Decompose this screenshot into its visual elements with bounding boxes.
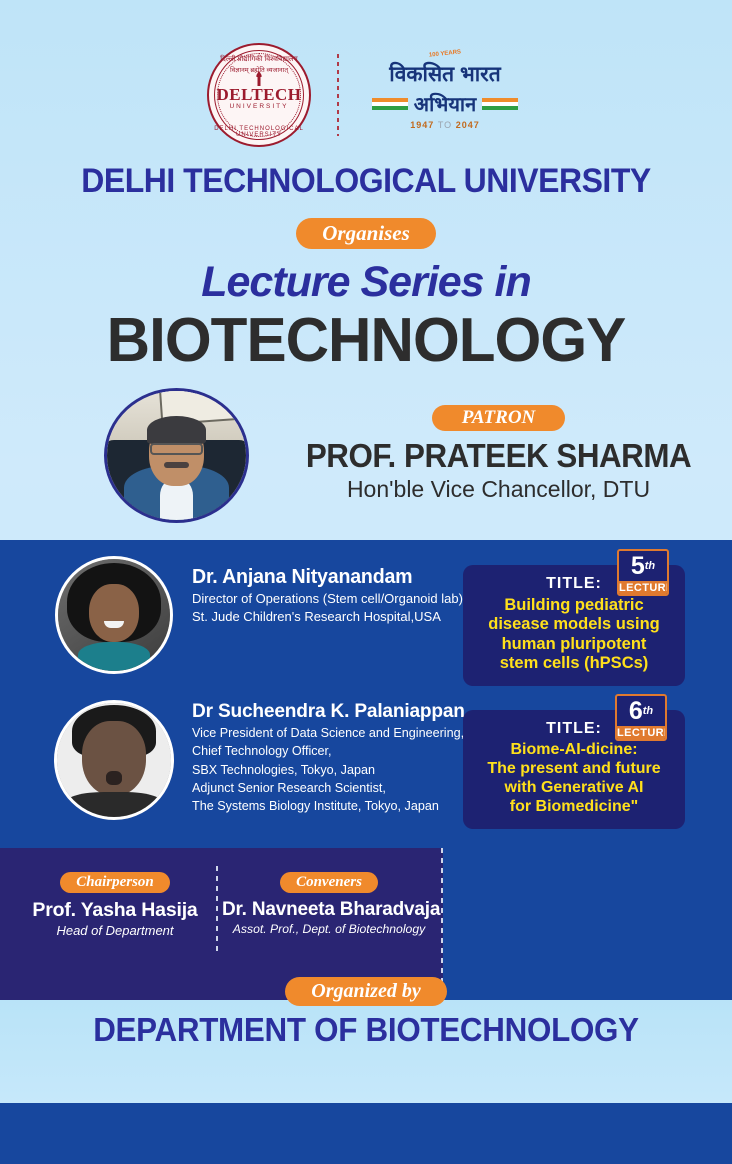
- patron-portrait-image: [107, 391, 246, 520]
- speaker-2-affiliation-line-5: The Systems Biology Institute, Tokyo, Ja…: [192, 798, 454, 814]
- lecture-1-number: 5th: [619, 551, 667, 581]
- convener-name: Dr. Navneeta Bharadvaja: [222, 899, 436, 921]
- chairperson-badge: Chairperson: [60, 872, 170, 893]
- logo-divider: [337, 54, 339, 136]
- lecture-1-title-line-1: Building pediatric: [471, 596, 677, 615]
- subject-title: BIOTECHNOLOGY: [11, 305, 721, 376]
- chairperson-name: Prof. Yasha Hasija: [14, 899, 216, 922]
- seal-bottom-arc: DELHI TECHNOLOGICAL UNIVERSITY: [207, 126, 311, 138]
- vb-line1-text: विकसित भारत: [389, 60, 500, 88]
- speaker-1-photo: [55, 556, 173, 674]
- organized-by-badge-wrap: Organized by: [0, 977, 732, 1006]
- patron-role: Hon'ble Vice Chancellor, DTU: [265, 476, 732, 503]
- lecture-1-number-value: 5: [631, 554, 645, 579]
- lecture-2-title-line-2: The present and future: [471, 760, 677, 779]
- chairperson-designation: Head of Department: [14, 923, 216, 938]
- speaker-2-affiliation-line-3: SBX Technologies, Tokyo, Japan: [192, 762, 454, 778]
- lecture-1-title-line-4: stem cells (hPSCs): [471, 654, 677, 673]
- vb-year-to: TO: [438, 120, 452, 130]
- vb-years-range: 1947 TO 2047: [365, 120, 525, 130]
- lecture-2-title-line-4: for Biomedicine": [471, 798, 677, 817]
- speaker-1-info: Dr. Anjana Nityanandam Director of Opera…: [192, 566, 454, 626]
- vb-line-2: अभियान: [365, 90, 525, 117]
- organized-by-badge: Organized by: [285, 977, 446, 1006]
- lecture-2-word: LECTURE: [617, 726, 665, 741]
- patron-photo: [104, 388, 249, 523]
- lecture-1-word: LECTURE: [619, 581, 667, 596]
- footer-band: [0, 1103, 732, 1164]
- university-name: DELHI TECHNOLOGICAL UNIVERSITY: [22, 162, 710, 201]
- organisers-divider: [216, 866, 218, 956]
- vb-year-end: 2047: [456, 120, 480, 130]
- vb-line-1: विकसित भारत: [365, 60, 525, 88]
- lecture-2-title-line-3: with Generative AI: [471, 779, 677, 798]
- convener-designation: Assot. Prof., Dept. of Biotechnology: [222, 922, 436, 936]
- lecture-1-ordinal: th: [645, 561, 655, 572]
- speaker-2-affiliation-line-1: Vice President of Data Science and Engin…: [192, 725, 454, 741]
- lecture-2-number-value: 6: [629, 699, 643, 724]
- speaker-2-name: Dr Sucheendra K. Palaniappan: [192, 700, 449, 723]
- speaker-2-photo: [54, 700, 174, 820]
- organises-badge: Organises: [296, 218, 436, 249]
- chairperson-column: Chairperson Prof. Yasha Hasija Head of D…: [14, 872, 216, 938]
- conveners-column: Conveners Dr. Navneeta Bharadvaja Assot.…: [222, 872, 436, 936]
- speaker-1-affiliation-line-2: St. Jude Children's Research Hospital,US…: [192, 609, 454, 625]
- dtu-seal-logo: दिल्ली प्रौद्योगिकी विश्वविद्यालय विज्ञा…: [207, 43, 311, 147]
- tricolour-flag-right-icon: [482, 98, 518, 110]
- vb-line2-text: अभियान: [414, 90, 476, 117]
- speaker-2-info: Dr Sucheendra K. Palaniappan Vice Presid…: [192, 700, 454, 815]
- lecture-2-title-line-1: Biome-AI-dicine:: [471, 741, 677, 760]
- seal-wordmark: DELTECH: [207, 85, 311, 105]
- lecture-2-number-badge: 6th LECTURE: [615, 694, 667, 741]
- speaker-2-affiliation-line-2: Chief Technology Officer,: [192, 743, 454, 759]
- vb-100-years-badge: 100 YEARS: [429, 49, 462, 58]
- speaker-2-affiliation-line-4: Adjunct Senior Research Scientist,: [192, 780, 454, 796]
- poster-root: दिल्ली प्रौद्योगिकी विश्वविद्यालय विज्ञा…: [0, 0, 732, 1164]
- speaker-1-affiliation-line-1: Director of Operations (Stem cell/Organo…: [192, 591, 454, 607]
- seal-hindi-top: दिल्ली प्रौद्योगिकी विश्वविद्यालय: [207, 55, 311, 64]
- lecture-1-title-line-3: human pluripotent: [471, 635, 677, 654]
- lecture-2-ordinal: th: [643, 706, 653, 717]
- vb-year-from: 1947: [410, 120, 434, 130]
- lecture-1-number-badge: 5th LECTURE: [617, 549, 669, 596]
- lecture-1-title-line-2: disease models using: [471, 615, 677, 634]
- viksit-bharat-abhiyan-logo: 100 YEARS विकसित भारत अभियान 1947 TO 204…: [365, 60, 525, 130]
- header-logos: दिल्ली प्रौद्योगिकी विश्वविद्यालय विज्ञा…: [0, 40, 732, 150]
- tricolour-flag-left-icon: [372, 98, 408, 110]
- lecture-2-number: 6th: [617, 696, 665, 726]
- patron-badge: PATRON: [432, 405, 566, 431]
- seal-subword: UNIVERSITY: [207, 103, 311, 110]
- speaker-1-name: Dr. Anjana Nityanandam: [192, 566, 449, 589]
- department-name: DEPARTMENT OF BIOTECHNOLOGY: [18, 1011, 713, 1049]
- conveners-badge: Conveners: [280, 872, 378, 893]
- lecture-series-line: Lecture Series in: [0, 258, 732, 307]
- patron-badge-wrap: PATRON: [265, 405, 732, 431]
- organises-badge-wrap: Organises: [0, 218, 732, 249]
- patron-name: PROF. PRATEEK SHARMA: [277, 437, 721, 475]
